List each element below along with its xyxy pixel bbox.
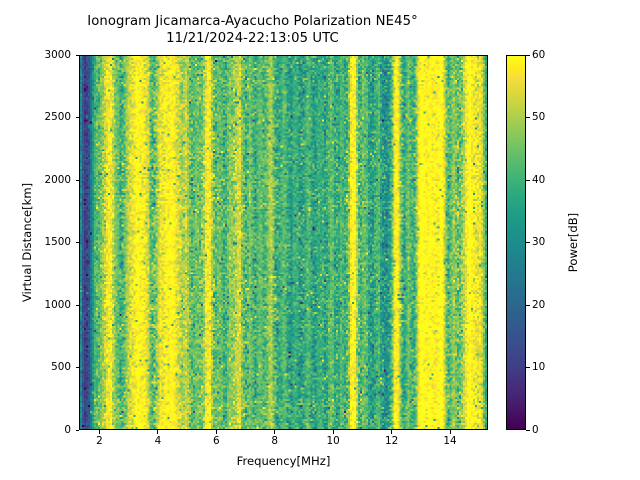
colorbar-gradient (507, 56, 525, 429)
colorbar-tick-mark (526, 305, 530, 306)
x-tick-mark (157, 430, 158, 434)
title-line-1: Ionogram Jicamarca-Ayacucho Polarization… (0, 14, 505, 31)
ionogram-heatmap (80, 56, 487, 429)
colorbar-tick-label: 10 (532, 362, 545, 372)
y-tick-label: 1500 (45, 237, 71, 247)
y-tick-label: 2000 (45, 175, 71, 185)
x-tick-mark (216, 430, 217, 434)
y-tick-label: 2500 (45, 112, 71, 122)
x-tick-label: 2 (96, 436, 103, 446)
colorbar-tick-mark (526, 367, 530, 368)
x-tick-mark (391, 430, 392, 434)
x-tick-label: 6 (213, 436, 220, 446)
y-tick-mark (76, 430, 80, 431)
y-tick-mark (76, 55, 80, 56)
x-tick-label: 14 (443, 436, 456, 446)
colorbar-tick-label: 50 (532, 112, 545, 122)
x-tick-label: 8 (271, 436, 278, 446)
colorbar-tick-mark (526, 242, 530, 243)
colorbar-tick-mark (526, 180, 530, 181)
colorbar-tick-label: 30 (532, 237, 545, 247)
x-tick-mark (274, 430, 275, 434)
title-line-2: 11/21/2024-22:13:05 UTC (0, 31, 505, 48)
y-tick-mark (76, 180, 80, 181)
x-tick-mark (99, 430, 100, 434)
ionogram-figure: Ionogram Jicamarca-Ayacucho Polarization… (0, 0, 640, 480)
y-tick-mark (76, 305, 80, 306)
colorbar-tick-label: 40 (532, 175, 545, 185)
colorbar-label: Power[dB] (566, 55, 580, 430)
x-tick-label: 4 (155, 436, 162, 446)
colorbar-tick-label: 0 (532, 425, 539, 435)
colorbar-tick-label: 20 (532, 300, 545, 310)
x-tick-mark (450, 430, 451, 434)
y-tick-mark (76, 367, 80, 368)
y-tick-label: 1000 (45, 300, 71, 310)
x-axis-label: Frequency[MHz] (79, 455, 488, 467)
plot-area (79, 55, 488, 430)
colorbar-tick-mark (526, 430, 530, 431)
y-axis-label: Virtual Distance[km] (20, 55, 34, 430)
y-tick-label: 3000 (45, 50, 71, 60)
x-tick-mark (333, 430, 334, 434)
colorbar (506, 55, 526, 430)
y-tick-label: 0 (64, 425, 71, 435)
y-tick-mark (76, 117, 80, 118)
figure-title: Ionogram Jicamarca-Ayacucho Polarization… (0, 14, 505, 47)
y-tick-mark (76, 242, 80, 243)
x-tick-label: 12 (385, 436, 398, 446)
colorbar-tick-mark (526, 117, 530, 118)
y-tick-label: 500 (51, 362, 71, 372)
colorbar-tick-mark (526, 55, 530, 56)
colorbar-tick-label: 60 (532, 50, 545, 60)
x-tick-label: 10 (327, 436, 340, 446)
